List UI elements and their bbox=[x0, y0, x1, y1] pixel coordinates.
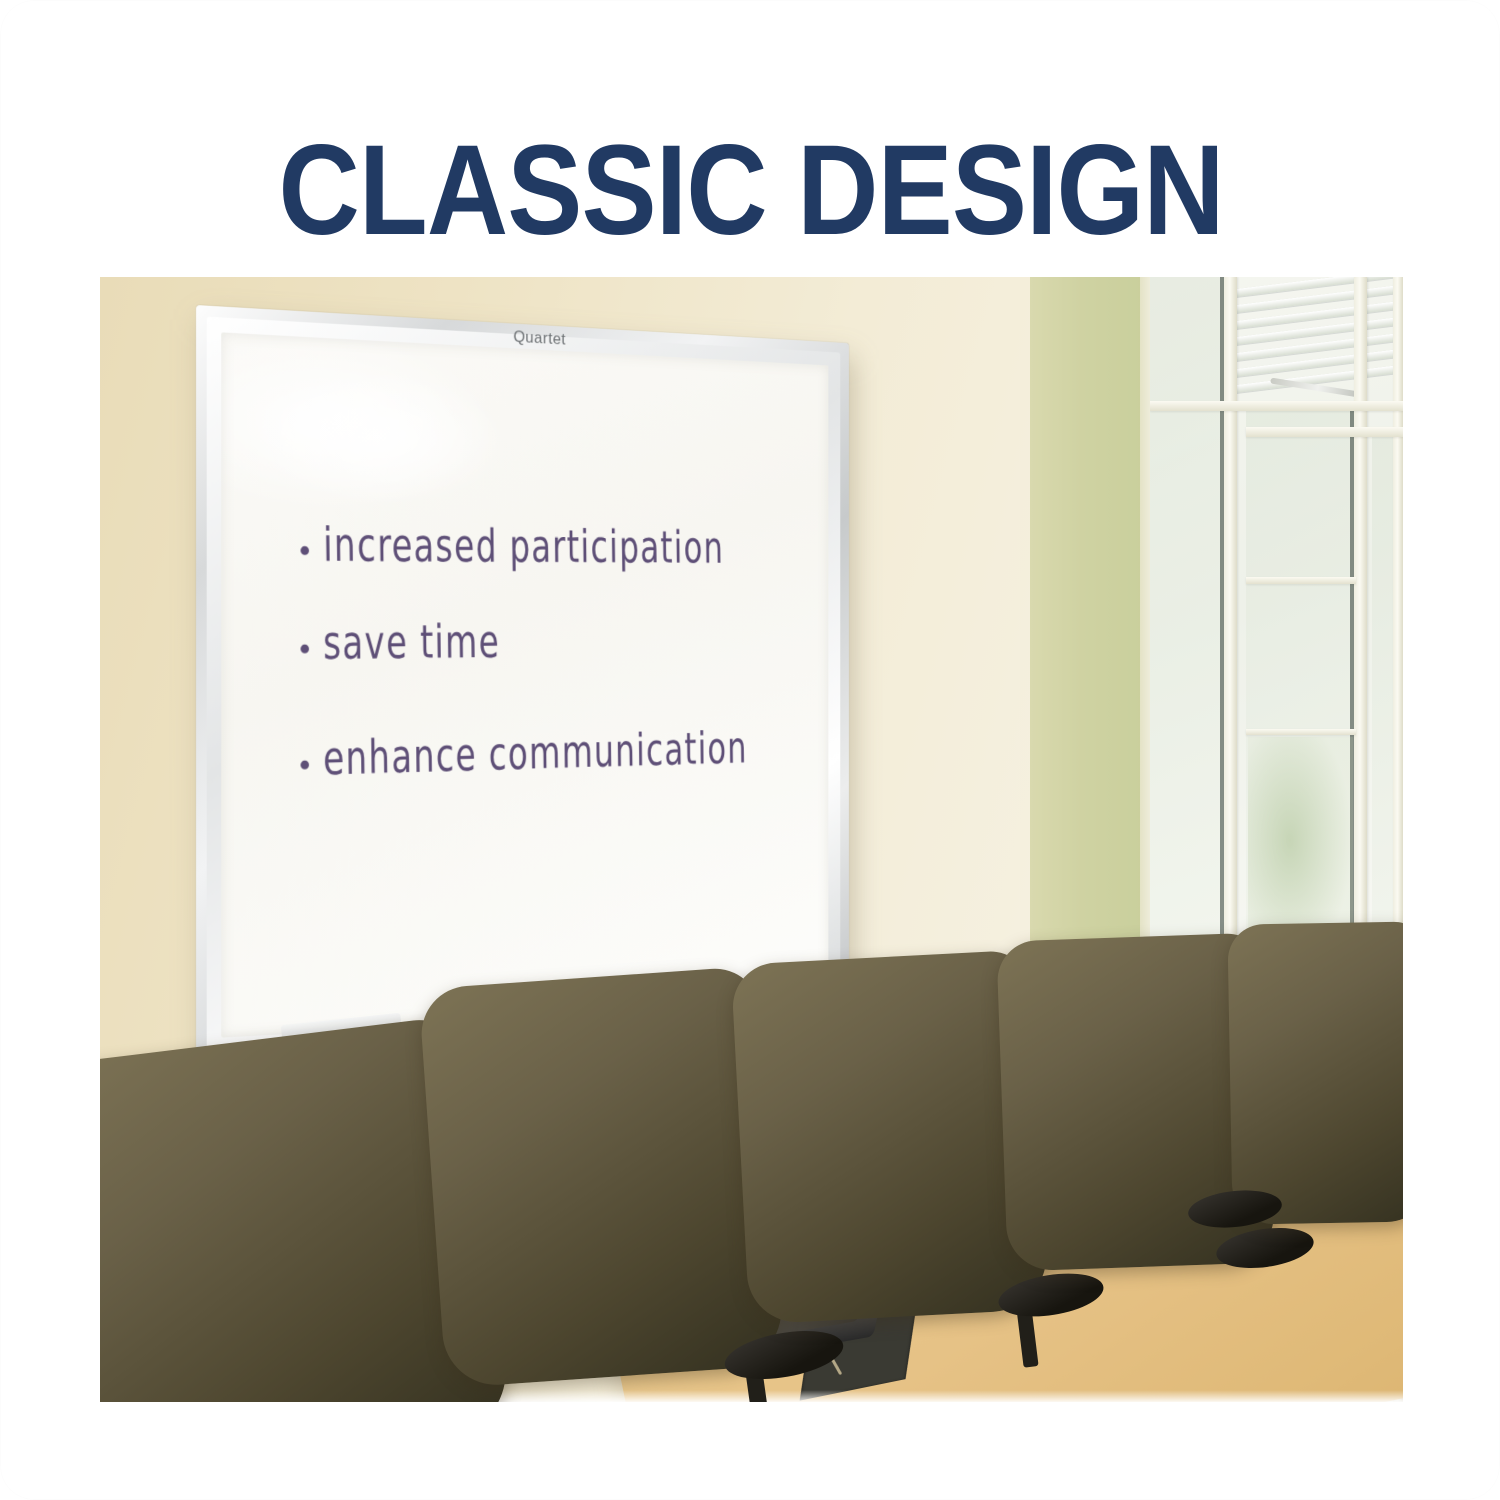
bullet-icon bbox=[301, 761, 310, 770]
note-line: enhance communication bbox=[300, 732, 784, 787]
handwritten-notes: increased participation save time enhanc… bbox=[301, 525, 784, 838]
bullet-icon bbox=[301, 546, 310, 555]
note-text: save time bbox=[323, 615, 501, 670]
conference-room-photo: Quartet increased participation save tim… bbox=[100, 277, 1403, 1402]
mullion-horizontal bbox=[1246, 729, 1356, 735]
chair-backrest bbox=[1227, 921, 1403, 1224]
mullion-horizontal bbox=[1246, 577, 1356, 584]
note-line: increased participation bbox=[300, 529, 784, 574]
chair-backrest bbox=[418, 966, 785, 1389]
whiteboard-writing-surface[interactable]: increased participation save time enhanc… bbox=[221, 332, 828, 1037]
dry-erase-whiteboard[interactable]: Quartet increased participation save tim… bbox=[196, 305, 849, 1065]
mullion-horizontal bbox=[1246, 427, 1403, 437]
page-title: CLASSIC DESIGN bbox=[279, 127, 1224, 261]
headline-band: CLASSIC DESIGN bbox=[100, 110, 1403, 277]
note-line: save time bbox=[300, 624, 784, 670]
note-text: increased participation bbox=[323, 518, 725, 573]
bullet-icon bbox=[301, 645, 310, 654]
whiteboard-aluminum-frame: Quartet increased participation save tim… bbox=[196, 305, 849, 1065]
mullion-horizontal bbox=[1150, 401, 1403, 411]
note-text: enhance communication bbox=[323, 722, 748, 785]
surface-glare bbox=[241, 362, 509, 510]
product-image-card: CLASSIC DESIGN bbox=[0, 0, 1500, 1500]
